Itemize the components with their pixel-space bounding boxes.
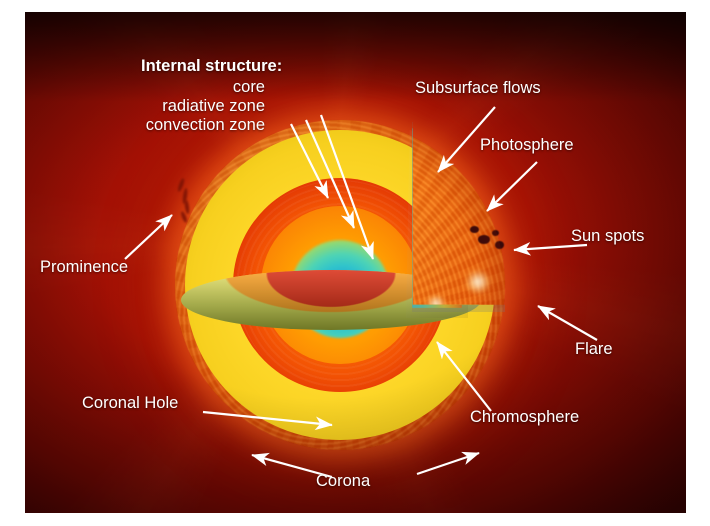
label-prominence: Prominence <box>40 258 128 277</box>
label-photosphere: Photosphere <box>480 136 574 155</box>
label-convection-zone: convection zone <box>91 116 265 135</box>
label-flare: Flare <box>575 340 613 359</box>
figure-canvas: Internal structure: core radiative zone … <box>0 0 710 526</box>
sun-diagram-plate: Internal structure: core radiative zone … <box>25 12 686 513</box>
label-corona: Corona <box>316 472 370 491</box>
label-chromosphere: Chromosphere <box>470 408 579 427</box>
label-coronal-hole: Coronal Hole <box>82 394 178 413</box>
label-sun-spots: Sun spots <box>571 227 644 246</box>
label-core: core <box>91 78 265 97</box>
label-subsurface-flows: Subsurface flows <box>415 79 541 98</box>
label-radiative-zone: radiative zone <box>91 97 265 116</box>
label-internal-structure: Internal structure: <box>141 57 282 76</box>
